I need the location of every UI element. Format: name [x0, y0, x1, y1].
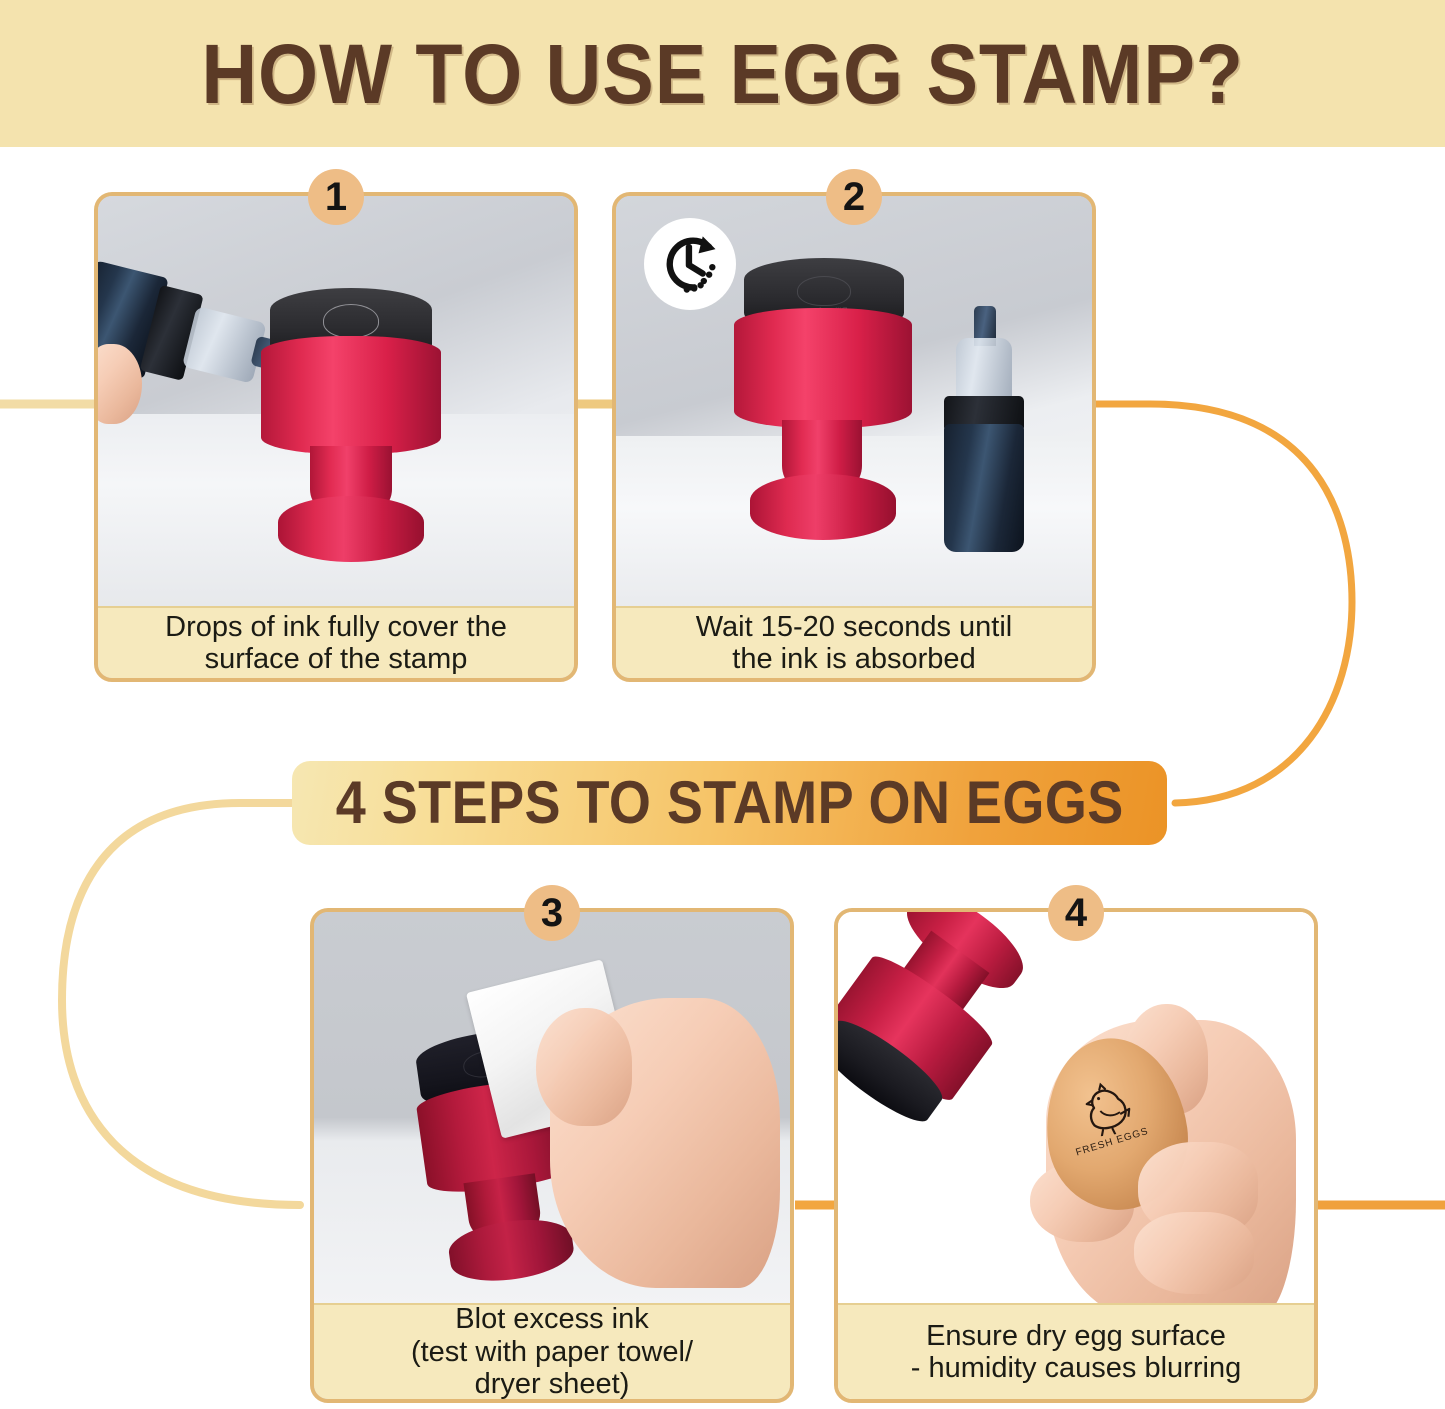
- step-card-3[interactable]: Blot excess ink (test with paper towel/ …: [310, 908, 794, 1403]
- step-3-caption: Blot excess ink (test with paper towel/ …: [314, 1303, 790, 1399]
- step-2-caption-line-2: the ink is absorbed: [696, 643, 1012, 675]
- timer-badge: [644, 218, 736, 310]
- step-4-caption-line-1: Ensure dry egg surface: [911, 1320, 1241, 1352]
- connector-curve-right: [1090, 404, 1352, 803]
- ring-finger: [1134, 1212, 1254, 1294]
- step-badge-3: 3: [524, 885, 580, 941]
- chicken-icon: [1075, 1077, 1140, 1139]
- mid-section-title: 4 STEPS TO STAMP ON EGGS: [336, 773, 1124, 833]
- step-3-caption-line-1: Blot excess ink: [411, 1303, 693, 1335]
- stamp-foot: [446, 1213, 577, 1288]
- fingers: [536, 1008, 632, 1126]
- step-badge-4: 4: [1048, 885, 1104, 941]
- page-title: HOW TO USE EGG STAMP?: [201, 32, 1244, 116]
- step-2-caption: Wait 15-20 seconds until the ink is abso…: [616, 606, 1092, 678]
- step-4-caption-line-2: - humidity causes blurring: [911, 1352, 1241, 1384]
- step-3-caption-line-2: (test with paper towel/: [411, 1336, 693, 1368]
- step-1-caption: Drops of ink fully cover the surface of …: [98, 606, 574, 678]
- stamp-foot: [750, 474, 896, 540]
- step-badge-2: 2: [826, 169, 882, 225]
- clock-icon: [656, 230, 724, 298]
- step-1-photo: Riling Acres: [98, 196, 574, 614]
- step-card-1[interactable]: Riling Acres Drops of ink fully cover th…: [94, 192, 578, 682]
- step-1-caption-line-1: Drops of ink fully cover the: [165, 611, 507, 643]
- step-3-caption-line-3: dryer sheet): [411, 1368, 693, 1400]
- step-card-4[interactable]: FRESH EGGS Ensure dry egg surface - humi…: [834, 908, 1318, 1403]
- step-card-2[interactable]: Riling Acres Wait 15-20 seconds until th…: [612, 192, 1096, 682]
- ink-bottle-body: [944, 424, 1024, 552]
- connector-curve-left: [62, 803, 300, 1205]
- step-1-caption-line-2: surface of the stamp: [165, 643, 507, 675]
- stamp-red-body: [734, 308, 912, 428]
- step-4-caption: Ensure dry egg surface - humidity causes…: [838, 1303, 1314, 1399]
- step-3-photo: [314, 912, 790, 1307]
- page-header-banner: HOW TO USE EGG STAMP?: [0, 0, 1445, 147]
- stamp-red-body: [261, 336, 441, 454]
- mid-section-banner: 4 STEPS TO STAMP ON EGGS: [292, 761, 1167, 845]
- egg-stamp-mark: FRESH EGGS: [1066, 1076, 1150, 1153]
- step-badge-1: 1: [308, 169, 364, 225]
- step-4-photo: FRESH EGGS: [838, 912, 1314, 1307]
- stamp-foot: [278, 496, 424, 562]
- step-2-caption-line-1: Wait 15-20 seconds until: [696, 611, 1012, 643]
- step-2-photo: Riling Acres: [616, 196, 1092, 614]
